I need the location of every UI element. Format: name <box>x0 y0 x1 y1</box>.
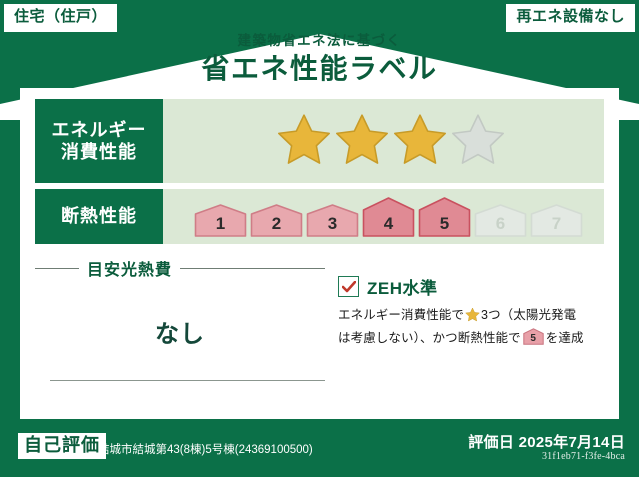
insulation-level-5: 5 <box>418 197 471 237</box>
insulation-level-number: 6 <box>474 215 527 232</box>
evaluation-id: 31f1eb71-f3fe-4bca <box>542 451 625 462</box>
star-empty-icon <box>450 112 506 171</box>
inline-insulation-badge: 5 <box>523 328 544 345</box>
energy-performance-label: エネルギー 消費性能 <box>35 99 163 183</box>
utility-cost-header: 目安光熱費 <box>35 256 325 280</box>
insulation-performance-value: 1234567 <box>163 189 604 244</box>
insulation-level-number: 3 <box>306 215 359 232</box>
insulation-level-scale: 1234567 <box>194 197 583 237</box>
inline-badge-number: 5 <box>523 334 544 344</box>
energy-label-line2: 消費性能 <box>61 141 137 164</box>
zeh-checkbox[interactable] <box>338 276 359 297</box>
insulation-level-number: 5 <box>418 215 471 232</box>
label-card: エネルギー 消費性能 断熱性能 1234567 目安光熱費 <box>20 88 619 419</box>
divider-left <box>35 268 79 269</box>
zeh-desc-part1: エネルギー消費性能で <box>338 308 464 322</box>
insulation-level-1: 1 <box>194 204 247 237</box>
insulation-level-number: 1 <box>194 215 247 232</box>
utility-cost-value: なし <box>35 314 325 349</box>
label-footer: 自己評価 結城市結城第43(8棟)5号棟(24369100500) 評価日 20… <box>0 419 639 477</box>
insulation-label-text: 断熱性能 <box>61 205 137 228</box>
energy-performance-label: 住宅（住戸） 再エネ設備なし 建築物省エネ法に基づく 省エネ性能ラベル エネルギ… <box>0 0 639 477</box>
zeh-block: ZEH水準 エネルギー消費性能で 3つ（太陽光発電 は考慮しない）、かつ断熱性能… <box>338 274 606 349</box>
insulation-level-4: 4 <box>362 197 415 237</box>
lower-section: 目安光熱費 なし ZEH水準 エネルギー消費性能で <box>20 254 619 419</box>
utility-cost-block: 目安光熱費 なし <box>35 254 325 419</box>
star-rating <box>276 112 506 171</box>
self-evaluation-badge: 自己評価 <box>18 433 106 459</box>
inline-star-icon <box>465 307 480 328</box>
utility-cost-title: 目安光熱費 <box>87 256 172 280</box>
insulation-level-number: 7 <box>530 215 583 232</box>
building-name-text: 結城市結城第43(8棟)5号棟(24369100500) <box>98 441 313 457</box>
zeh-desc-part2: は考慮しない）、かつ断熱性能で <box>338 331 521 345</box>
zeh-desc-star-count: 3つ（太陽光発電 <box>481 308 576 322</box>
energy-performance-value <box>163 99 604 183</box>
energy-performance-row: エネルギー 消費性能 <box>35 99 604 183</box>
zeh-title: ZEH水準 <box>367 274 438 299</box>
utility-cost-underline <box>50 380 325 381</box>
star-filled-icon <box>392 112 448 171</box>
insulation-level-3: 3 <box>306 204 359 237</box>
energy-label-line1: エネルギー <box>52 119 147 142</box>
insulation-level-number: 2 <box>250 215 303 232</box>
star-filled-icon <box>276 112 332 171</box>
insulation-performance-label: 断熱性能 <box>35 189 163 244</box>
insulation-level-7: 7 <box>530 204 583 237</box>
zeh-desc-part3: を達成 <box>546 331 584 345</box>
tag-renewable-energy: 再エネ設備なし <box>506 4 635 32</box>
tag-building-type: 住宅（住戸） <box>4 4 117 32</box>
zeh-header: ZEH水準 <box>338 274 606 299</box>
insulation-performance-row: 断熱性能 1234567 <box>35 189 604 244</box>
insulation-level-number: 4 <box>362 215 415 232</box>
insulation-level-6: 6 <box>474 204 527 237</box>
evaluation-date: 評価日 2025年7月14日 <box>468 431 625 452</box>
divider-right <box>180 268 325 269</box>
zeh-description: エネルギー消費性能で 3つ（太陽光発電 は考慮しない）、かつ断熱性能で 5 を達… <box>338 306 606 349</box>
check-icon <box>342 281 356 293</box>
star-filled-icon <box>334 112 390 171</box>
insulation-level-2: 2 <box>250 204 303 237</box>
